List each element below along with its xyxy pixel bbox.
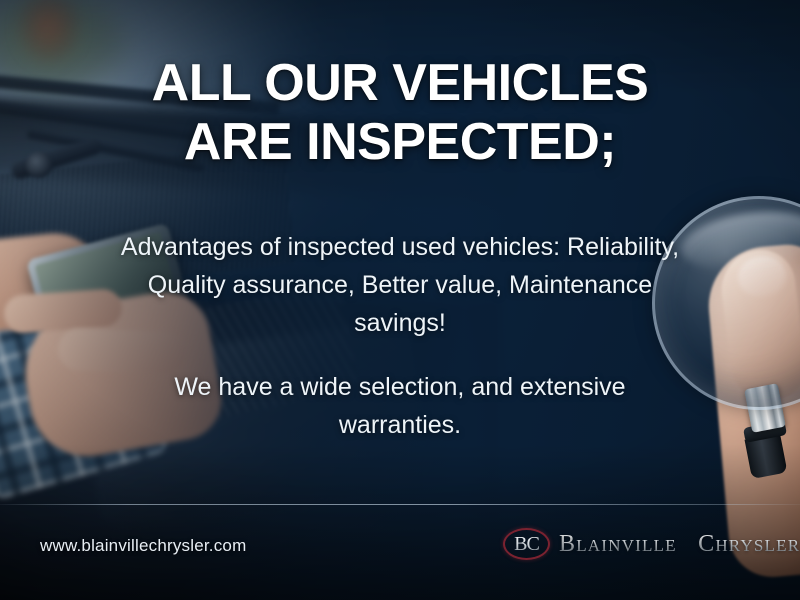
headline-line-1: ALL OUR VEHICLES xyxy=(0,54,800,113)
headline: ALL OUR VEHICLES ARE INSPECTED; xyxy=(0,54,800,173)
monogram-letters: BC xyxy=(514,533,539,556)
brand-name-part-1: Blainville xyxy=(559,531,677,557)
brand-name-part-2: Chrysler xyxy=(698,531,800,557)
brand-monogram-icon: BC xyxy=(503,528,550,560)
body-paragraph-1: Advantages of inspected used vehicles: R… xyxy=(120,228,680,342)
body-paragraph-2: We have a wide selection, and extensive … xyxy=(120,368,680,444)
brand-wordmark: Blainville Chrysler xyxy=(559,531,800,558)
ad-slide: ALL OUR VEHICLES ARE INSPECTED; Advantag… xyxy=(0,0,800,600)
website-url[interactable]: www.blainvillechrysler.com xyxy=(40,536,246,556)
body-copy: Advantages of inspected used vehicles: R… xyxy=(120,228,680,444)
brand-logo[interactable]: BC Blainville Chrysler xyxy=(503,528,800,560)
headline-line-2: ARE INSPECTED; xyxy=(0,113,800,172)
footer-divider xyxy=(0,504,800,505)
